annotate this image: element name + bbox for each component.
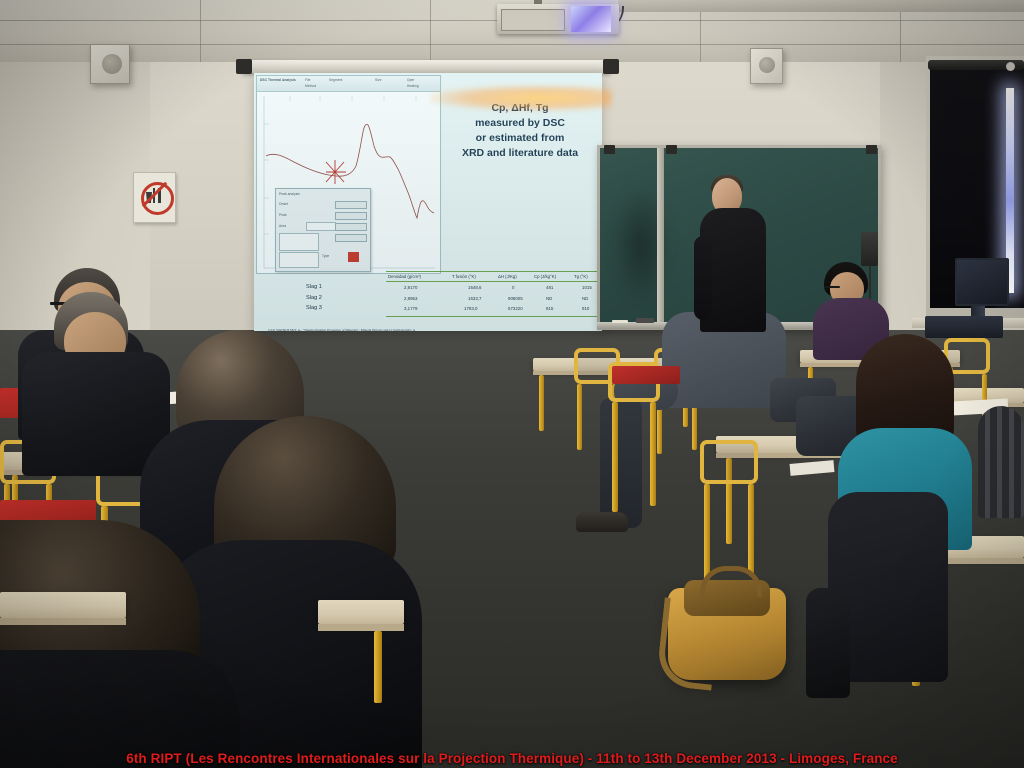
slide-heading-line-1: Cp, ΔHf, Tg	[440, 101, 600, 116]
dialog-button-integrate[interactable]	[335, 223, 367, 231]
desktop-monitor[interactable]	[955, 258, 1009, 306]
dialog-label-1: Onset	[279, 202, 288, 206]
dialog-label-4: Type	[322, 254, 329, 258]
dsc-field-oper: Oper	[407, 78, 415, 82]
dsc-field-heating: Heating	[407, 84, 419, 88]
speaker-cone-icon	[102, 54, 122, 74]
slide-heading-line-2: measured by DSC	[440, 116, 600, 131]
attendee-shoe	[576, 512, 628, 532]
table-col-4: Tg (°K)	[574, 274, 588, 279]
eraser[interactable]	[636, 318, 654, 323]
reference-line: [112] NAVROTSKY, A., "Thermodynamic Prop…	[268, 328, 415, 331]
table-cell-0-3: 481	[546, 285, 553, 290]
dsc-menubar: DSC Thermal Analysis File Segment Size O…	[257, 76, 440, 92]
wall-speaker-left	[90, 44, 130, 84]
dialog-title: Peak analysis	[279, 192, 300, 196]
dsc-software-panel: DSC Thermal Analysis File Segment Size O…	[256, 75, 441, 274]
table-cell-0-1: 1648,6	[468, 285, 481, 290]
table-cell-0-4: 1015	[582, 285, 592, 290]
dsc-field-method: Method	[305, 84, 316, 88]
dsc-analysis-dialog[interactable]: Peak analysis Onset Peak Area Type	[275, 188, 371, 272]
speaker-cone-icon	[759, 57, 775, 73]
table-cell-1-4: ND	[582, 296, 588, 301]
table-col-0: Densidad (g/cm³)	[388, 274, 421, 279]
dsc-field-size: Size	[375, 78, 382, 82]
wall-speaker-right	[750, 48, 783, 84]
wall-phone[interactable]	[861, 232, 878, 266]
chalkboard-clip-left	[604, 145, 615, 154]
ceiling-projector	[497, 4, 619, 34]
projector-lens-icon	[571, 6, 611, 32]
blind-pull-knob[interactable]	[1006, 62, 1015, 71]
lecture-room-photo: DSC Thermal Analysis File Segment Size O…	[0, 0, 1024, 768]
table-col-1: T fusión (°K)	[452, 274, 476, 279]
table-cell-2-3: 815	[546, 306, 553, 311]
dialog-label-2: Peak	[279, 213, 287, 217]
chalkboard-clip-mid	[666, 145, 677, 154]
chalkboard-divider	[657, 148, 664, 327]
prohibition-circle-icon	[141, 182, 174, 215]
table-cell-2-0: 3,1779	[404, 306, 417, 311]
boot	[806, 588, 850, 698]
table-cell-1-0: 2,9953	[404, 296, 417, 301]
dialog-label-3: Area	[279, 224, 286, 228]
table-cell-1-2: 908005	[508, 296, 523, 301]
dsc-titlebar-label: DSC Thermal Analysis	[260, 78, 296, 82]
dialog-color-swatch[interactable]	[348, 252, 359, 262]
presentation-slide: DSC Thermal Analysis File Segment Size O…	[254, 73, 602, 331]
table-col-3: Cp (J/kg°K)	[534, 274, 556, 279]
no-food-drink-sign	[133, 172, 176, 223]
table-col-2: ΔH (J/Kg)	[498, 274, 517, 279]
slide-heading-line-4: XRD and literature data	[440, 146, 600, 161]
dialog-button-select-range[interactable]	[335, 212, 367, 220]
dsc-field-segment: Segment	[329, 78, 342, 82]
chalk-piece[interactable]	[612, 320, 628, 323]
dsc-field-file: File	[305, 78, 311, 82]
dialog-button-add-marker[interactable]	[335, 234, 367, 242]
projector-body	[501, 9, 565, 31]
projection-screen: DSC Thermal Analysis File Segment Size O…	[254, 73, 602, 331]
presenter-arm	[694, 236, 712, 320]
table-cell-1-3: ND	[546, 296, 552, 301]
table-row-label-0: Slag 1	[306, 284, 322, 290]
table-row-label-2: Slag 3	[306, 305, 322, 311]
projection-screen-housing	[242, 60, 611, 73]
table-row-label-1: Slag 2	[306, 295, 322, 301]
table-cell-2-1: 1793,0	[464, 306, 477, 311]
pc-tower	[925, 316, 1003, 338]
table-cell-2-2: 573220	[508, 306, 523, 311]
photo-caption: 6th RIPT (Les Rencontres Internationales…	[0, 751, 1024, 766]
table-cell-0-2: 0	[512, 285, 514, 290]
slide-heading: Cp, ΔHf, Tg measured by DSC or estimated…	[440, 101, 600, 161]
red-folder-3	[612, 366, 680, 384]
table-cell-0-0: 2,9170	[404, 285, 417, 290]
chalkboard-clip-right	[866, 145, 877, 154]
slide-heading-line-3: or estimated from	[440, 131, 600, 146]
table-cell-1-1: 1633,7	[468, 296, 481, 301]
dialog-button-calculate[interactable]	[335, 201, 367, 209]
attendee-legs	[600, 398, 642, 528]
table-cell-2-4: 910	[582, 306, 589, 311]
